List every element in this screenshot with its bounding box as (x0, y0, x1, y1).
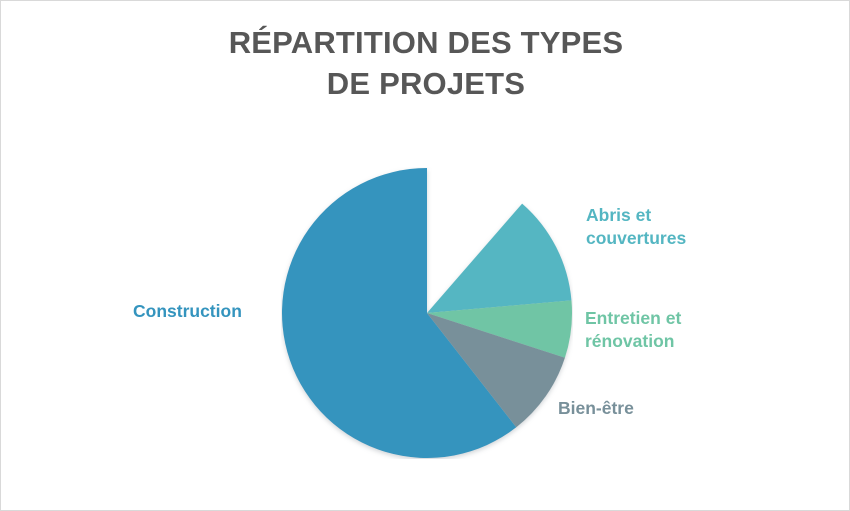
pie-slices-group (282, 168, 572, 458)
pie-chart-svg (281, 167, 573, 459)
chart-canvas: RÉPARTITION DES TYPES DE PROJETS Constru… (0, 0, 850, 511)
pie-label-abris-et-couvertures: Abris et couvertures (586, 204, 686, 251)
pie-label-entretien-line-1: Entretien et (585, 307, 681, 330)
pie-label-entretien-line-2: rénovation (585, 330, 681, 353)
chart-title-line-1: RÉPARTITION DES TYPES (1, 23, 850, 64)
pie-slice-abris-et-couvertures[interactable] (427, 204, 571, 313)
pie-label-abris-line-2: couvertures (586, 227, 686, 250)
pie-label-bien-etre: Bien-être (558, 397, 634, 420)
pie-label-abris-line-1: Abris et (586, 204, 686, 227)
pie-label-construction: Construction (133, 300, 242, 323)
chart-title: RÉPARTITION DES TYPES DE PROJETS (1, 23, 850, 105)
pie-label-entretien-et-renovation: Entretien et rénovation (585, 307, 681, 354)
pie-label-construction-line-1: Construction (133, 300, 242, 323)
pie-label-bien-etre-line-1: Bien-être (558, 397, 634, 420)
chart-title-line-2: DE PROJETS (1, 64, 850, 105)
pie-chart (281, 167, 573, 459)
